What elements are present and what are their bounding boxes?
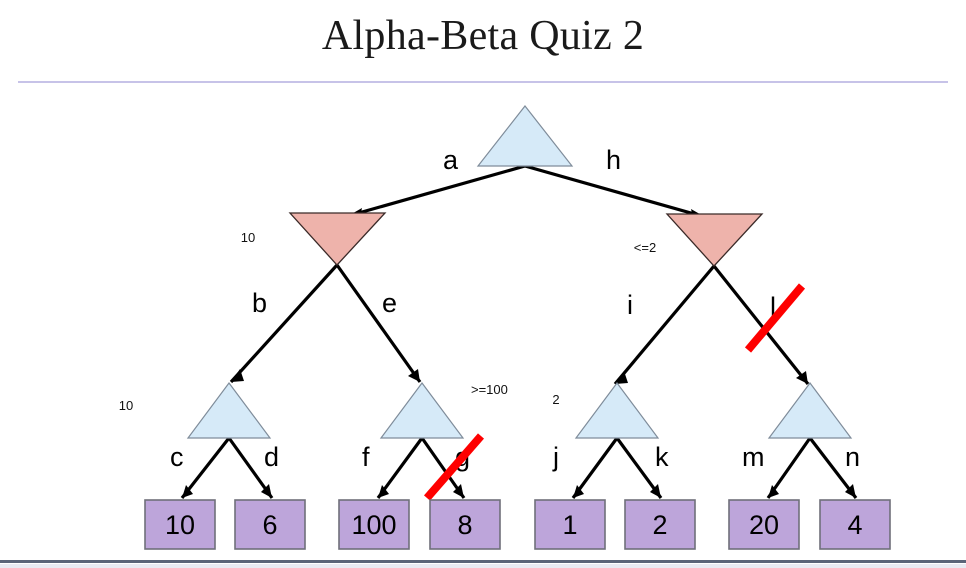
edge-label-h: h: [606, 145, 621, 175]
node-root[interactable]: [478, 106, 572, 166]
edge-label-e: e: [382, 288, 397, 318]
edge-label-i: i: [627, 290, 633, 320]
edge-label-a: a: [443, 145, 459, 175]
title-divider: [18, 81, 948, 83]
leaf-node-7[interactable]: 20: [729, 500, 799, 549]
leaf-node-6[interactable]: 2: [625, 500, 695, 549]
edge-e-group: e: [337, 265, 420, 382]
node-max-a[interactable]: 10: [119, 383, 270, 438]
slide-canvas: Alpha-Beta Quiz 2 a h b e i: [0, 0, 966, 568]
edge-i-group: i: [615, 266, 714, 384]
leaf-value-1: 10: [165, 510, 195, 540]
edge-n-group: n: [810, 438, 860, 498]
leaf-node-5[interactable]: 1: [535, 500, 605, 549]
leaf-value-7: 20: [749, 510, 779, 540]
node-max-a-triangle-up[interactable]: [188, 383, 270, 438]
leaf-node-4[interactable]: 8: [430, 500, 500, 549]
node-min-left-value: 10: [241, 230, 255, 245]
edge-label-f: f: [362, 442, 370, 472]
node-max-c-triangle-up[interactable]: [576, 383, 658, 438]
edge-l-group: l: [714, 266, 808, 384]
edge-b-group: b: [231, 265, 337, 382]
edge-a-line: [348, 166, 525, 216]
leaf-value-6: 2: [652, 510, 667, 540]
leaf-node-1[interactable]: 10: [145, 500, 215, 549]
leaf-value-5: 1: [562, 510, 577, 540]
leaf-node-2[interactable]: 6: [235, 500, 305, 549]
slide-bottom-border: [0, 560, 966, 563]
slide-bottom-border-shadow: [0, 564, 966, 568]
edge-g-group: g: [422, 438, 470, 498]
game-tree-diagram: a h b e i l: [0, 88, 966, 558]
node-max-b[interactable]: >=100: [381, 382, 508, 438]
leaf-value-2: 6: [262, 510, 277, 540]
edge-d-group: d: [229, 438, 279, 498]
leaf-value-8: 4: [847, 510, 862, 540]
node-max-b-value: >=100: [471, 382, 508, 397]
edge-label-b: b: [252, 288, 267, 318]
node-max-d-triangle-up[interactable]: [769, 383, 851, 438]
edge-label-c: c: [170, 442, 184, 472]
edge-i-line: [615, 266, 714, 384]
node-max-c-value: 2: [552, 392, 559, 407]
edge-label-j: j: [552, 442, 559, 472]
node-max-b-triangle-up[interactable]: [381, 383, 463, 438]
prune-mark-edge-g: [427, 436, 481, 498]
page-title: Alpha-Beta Quiz 2: [0, 12, 966, 60]
edge-label-d: d: [264, 442, 279, 472]
edge-label-n: n: [845, 442, 860, 472]
node-min-left[interactable]: 10: [241, 213, 385, 265]
leaf-node-8[interactable]: 4: [820, 500, 890, 549]
node-min-right-triangle-down[interactable]: [667, 214, 762, 266]
leaf-value-4: 8: [457, 510, 472, 540]
edge-e-line: [337, 265, 420, 382]
edge-k-group: k: [617, 438, 669, 498]
leaf-value-3: 100: [351, 510, 396, 540]
edge-l-line: [714, 266, 808, 384]
edge-c-group: c: [170, 438, 229, 498]
node-min-right[interactable]: <=2: [634, 214, 762, 266]
node-min-right-value: <=2: [634, 240, 656, 255]
edge-f-group: f: [362, 438, 422, 498]
node-min-left-triangle-down[interactable]: [290, 213, 385, 265]
edge-label-m: m: [742, 442, 765, 472]
leaf-node-3[interactable]: 100: [339, 500, 409, 549]
node-max-d[interactable]: [769, 383, 851, 438]
edge-b-line: [231, 265, 337, 382]
edge-label-k: k: [655, 442, 669, 472]
edge-m-group: m: [742, 438, 810, 498]
node-max-a-value: 10: [119, 398, 133, 413]
node-root-triangle-up[interactable]: [478, 106, 572, 166]
edge-j-group: j: [552, 438, 617, 498]
node-max-c[interactable]: 2: [552, 383, 658, 438]
